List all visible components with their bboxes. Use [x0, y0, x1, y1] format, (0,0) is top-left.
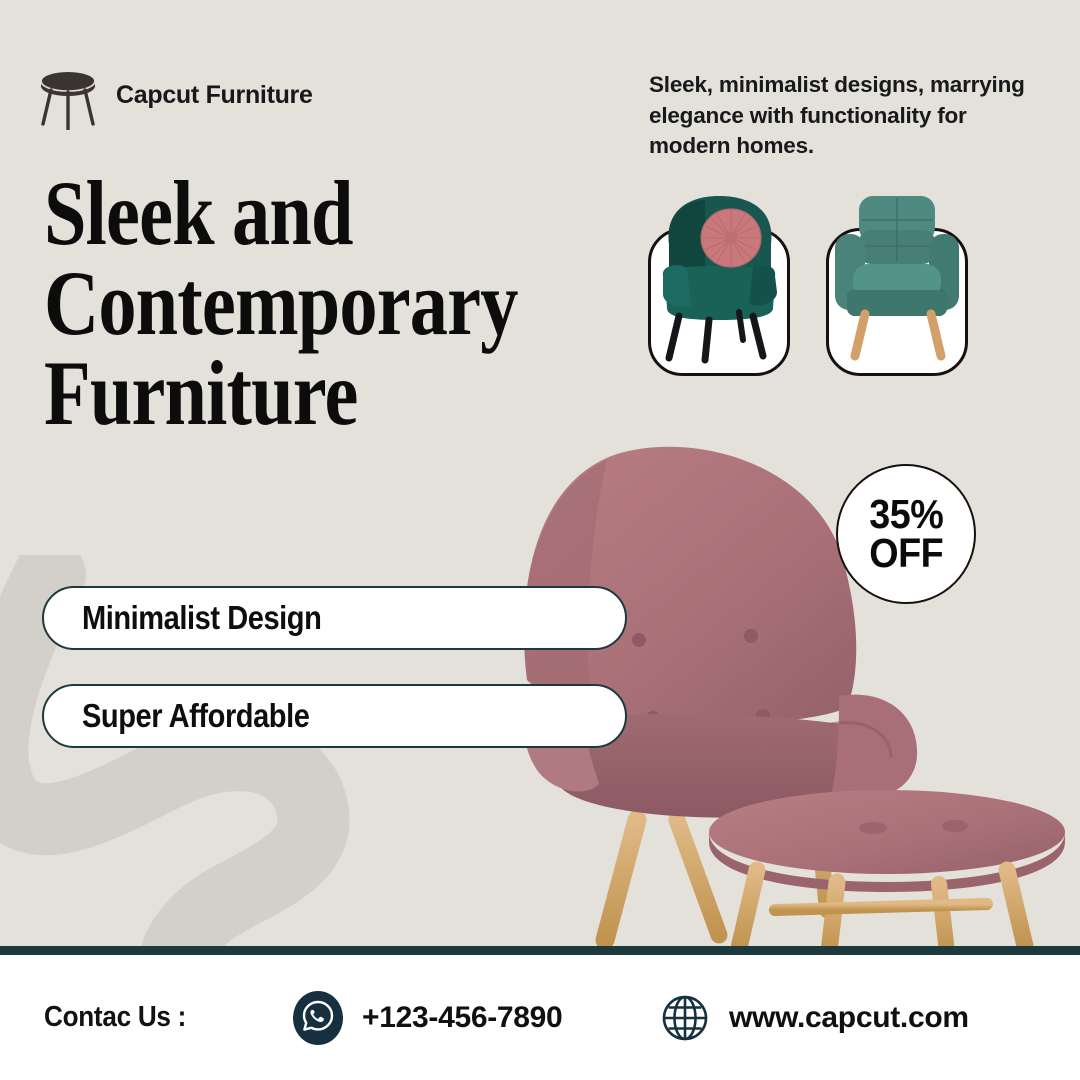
- feature-pill-super-affordable[interactable]: Super Affordable: [42, 684, 627, 748]
- contact-phone[interactable]: +123-456-7890: [292, 990, 562, 1046]
- headline-line-1: Sleek and: [44, 168, 675, 258]
- whatsapp-icon: [292, 990, 344, 1046]
- product-thumbnail-card[interactable]: [648, 228, 790, 376]
- armchair-icon: [813, 190, 981, 365]
- globe-icon: [659, 990, 711, 1046]
- brand-logo[interactable]: Capcut Furniture: [36, 60, 313, 130]
- discount-badge[interactable]: 35% OFF: [836, 464, 976, 604]
- stool-icon: [36, 60, 100, 130]
- headline-line-2: Contemporary: [44, 258, 675, 348]
- brand-name: Capcut Furniture: [116, 81, 313, 110]
- feature-pill-minimalist-design[interactable]: Minimalist Design: [42, 586, 627, 650]
- poster-canvas: Capcut Furniture Sleek, minimalist desig…: [0, 0, 1080, 1080]
- tagline: Sleek, minimalist designs, marrying eleg…: [649, 70, 1039, 162]
- website-url: www.capcut.com: [729, 1001, 969, 1035]
- feature-pill-label: Super Affordable: [82, 697, 309, 735]
- armchair-icon: [635, 190, 803, 365]
- product-thumbnail-list: [648, 228, 968, 376]
- phone-number: +123-456-7890: [362, 1001, 562, 1035]
- headline-line-3: Furniture: [44, 348, 675, 438]
- product-thumbnail-card[interactable]: [826, 228, 968, 376]
- contact-website[interactable]: www.capcut.com: [659, 990, 969, 1046]
- discount-percent: 35%: [869, 495, 943, 534]
- feature-pill-label: Minimalist Design: [82, 599, 321, 637]
- contact-label: Contac Us :: [44, 1001, 186, 1034]
- tagline-line-1: Sleek, minimalist designs,: [649, 72, 924, 97]
- page-title: Sleek and Contemporary Furniture: [44, 168, 675, 438]
- footer-bar: Contac Us : +123-456-7890 www.ca: [0, 955, 1080, 1080]
- discount-off-label: OFF: [869, 534, 943, 573]
- footer-divider: [0, 946, 1080, 955]
